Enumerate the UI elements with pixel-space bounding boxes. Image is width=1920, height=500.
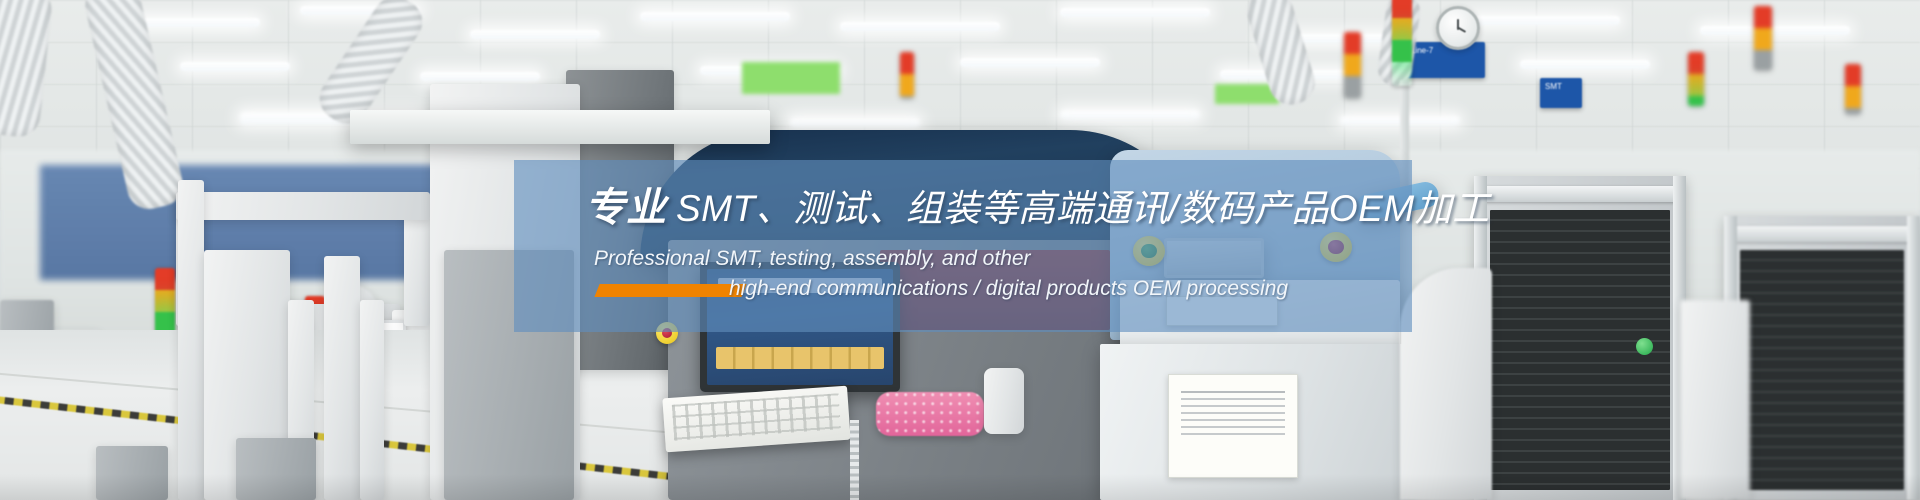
ceiling-light bbox=[960, 58, 1100, 67]
ceiling-sign: SMT bbox=[1540, 78, 1582, 108]
ceiling-light bbox=[840, 22, 1000, 31]
ceiling-light bbox=[1700, 26, 1850, 35]
pcb-magazine-rack bbox=[1474, 176, 1686, 500]
machine-column bbox=[324, 256, 360, 500]
ceiling-sign-label: SMT bbox=[1545, 82, 1562, 91]
signal-tower-light bbox=[1754, 6, 1772, 70]
signal-tower-light bbox=[1392, 0, 1412, 86]
hero-subtitle-line-2: high-end communications / digital produc… bbox=[729, 274, 1288, 304]
machine-frame-beam bbox=[176, 192, 430, 220]
bottom-vignette bbox=[0, 474, 1920, 500]
ceiling-light bbox=[180, 62, 290, 71]
hero-overlay-panel: 专业SMT、测试、组装等高端通讯/数码产品OEM加工 Professional … bbox=[514, 160, 1412, 332]
ceiling-light bbox=[420, 72, 540, 81]
hero-headline-rest: SMT、测试、组装等高端通讯/数码产品OEM加工 bbox=[676, 188, 1490, 229]
signal-tower-light bbox=[1344, 32, 1361, 98]
hero-subtitle-line-1: Professional SMT, testing, assembly, and… bbox=[594, 244, 1031, 274]
cable-mount bbox=[984, 368, 1024, 434]
ceiling-light bbox=[1470, 16, 1620, 25]
pcb-magazine-rack bbox=[1724, 216, 1920, 500]
signal-tower-light bbox=[1845, 64, 1861, 114]
ceiling-light bbox=[790, 118, 920, 127]
signal-tower-light bbox=[900, 52, 914, 98]
ceiling-light bbox=[640, 12, 790, 21]
hero-headline-keyword: 专业 bbox=[585, 186, 676, 230]
ceiling-light bbox=[1060, 110, 1200, 119]
signal-tower-light bbox=[155, 268, 175, 334]
machine-top-cover bbox=[350, 110, 770, 144]
wall-clock bbox=[1436, 6, 1480, 50]
hero-headline: 专业SMT、测试、组装等高端通讯/数码产品OEM加工 bbox=[585, 186, 1490, 231]
accent-bar bbox=[594, 284, 746, 297]
machine-frame-post bbox=[360, 300, 384, 500]
rack-status-indicator bbox=[1636, 338, 1653, 355]
machine-cabinet bbox=[1680, 300, 1750, 500]
machine-frame-post bbox=[178, 180, 204, 500]
ceiling-light bbox=[1520, 60, 1650, 69]
status-placard bbox=[742, 62, 840, 94]
hero-banner: SMT Line-7 SMT bbox=[0, 0, 1920, 500]
signal-tower-light bbox=[1688, 52, 1704, 106]
ceiling-light bbox=[1060, 8, 1210, 17]
machine-cabinet bbox=[1400, 268, 1492, 500]
ceiling-light bbox=[470, 30, 600, 39]
process-document bbox=[1168, 374, 1298, 478]
